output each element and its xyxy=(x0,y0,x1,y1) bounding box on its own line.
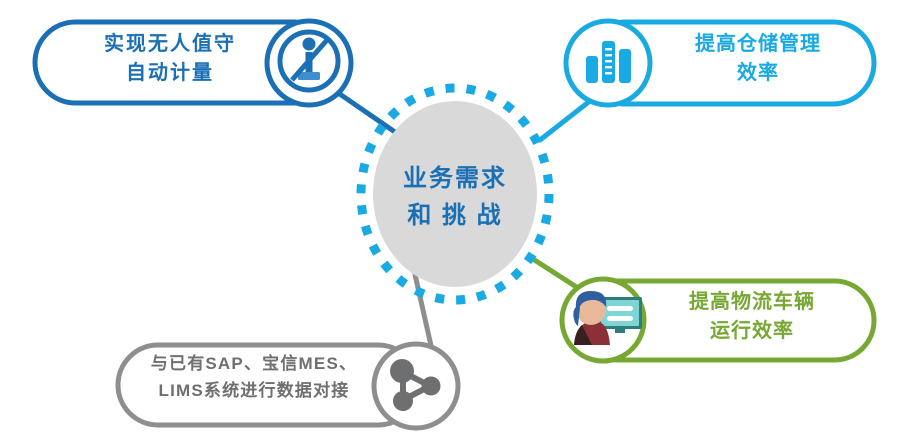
mindmap-diagram: 实现无人值守 自动计量 提高仓储管理 效率 提高物流车辆 运行效率 与已有SAP… xyxy=(0,0,908,438)
node-unattended-metering[interactable] xyxy=(35,21,351,105)
center-bubble-fill xyxy=(373,101,537,287)
node-system-integration[interactable] xyxy=(118,344,458,428)
center-bubble[interactable] xyxy=(361,88,549,300)
diagram-canvas xyxy=(0,0,908,438)
node-warehouse-efficiency[interactable] xyxy=(566,21,874,105)
node-logistics-efficiency[interactable] xyxy=(562,279,874,361)
node-integration-icon-circle xyxy=(374,344,458,428)
